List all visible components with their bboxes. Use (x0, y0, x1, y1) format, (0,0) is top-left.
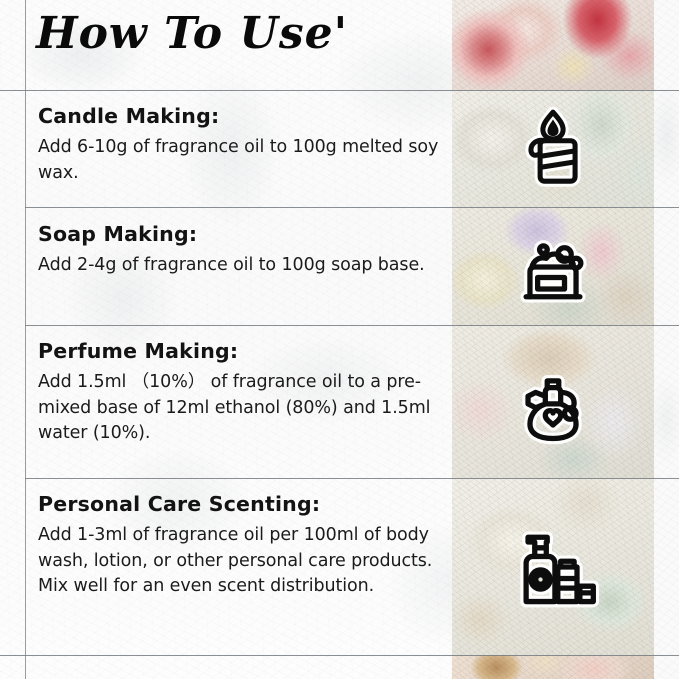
photo-strip (452, 0, 654, 679)
divider-3 (25, 325, 679, 326)
photo-care-row (452, 478, 654, 655)
section-heading-perfume: Perfume Making: (38, 339, 442, 363)
photo-bottom (452, 655, 654, 679)
section-heading-soap: Soap Making: (38, 222, 442, 246)
photo-perfume-row (452, 325, 654, 478)
divider-4 (25, 478, 679, 479)
section-body-candle: Add 6-10g of fragrance oil to 100g melte… (38, 135, 442, 186)
page-title: How To Use' (36, 8, 348, 59)
section-perfume-making: Perfume Making: Add 1.5ml （10%） of fragr… (38, 339, 442, 447)
section-heading-candle: Candle Making: (38, 104, 442, 128)
divider-2 (25, 207, 679, 208)
section-body-soap: Add 2-4g of fragrance oil to 100g soap b… (38, 253, 442, 279)
divider-1 (0, 90, 679, 91)
section-body-personal-care: Add 1-3ml of fragrance oil per 100ml of … (38, 523, 442, 600)
photo-candle-row (452, 90, 654, 207)
section-candle-making: Candle Making: Add 6-10g of fragrance oi… (38, 104, 442, 186)
right-margin-texture (654, 0, 679, 679)
divider-5 (0, 655, 679, 656)
section-soap-making: Soap Making: Add 2-4g of fragrance oil t… (38, 222, 442, 279)
section-body-perfume: Add 1.5ml （10%） of fragrance oil to a pr… (38, 370, 442, 447)
how-to-use-infographic: How To Use' Candle Making: Add 6-10g of … (0, 0, 679, 679)
left-margin-rule (25, 0, 26, 679)
photo-roses (452, 0, 654, 90)
section-personal-care-scenting: Personal Care Scenting: Add 1-3ml of fra… (38, 492, 442, 600)
photo-soap-row (452, 207, 654, 325)
section-heading-personal-care: Personal Care Scenting: (38, 492, 442, 516)
